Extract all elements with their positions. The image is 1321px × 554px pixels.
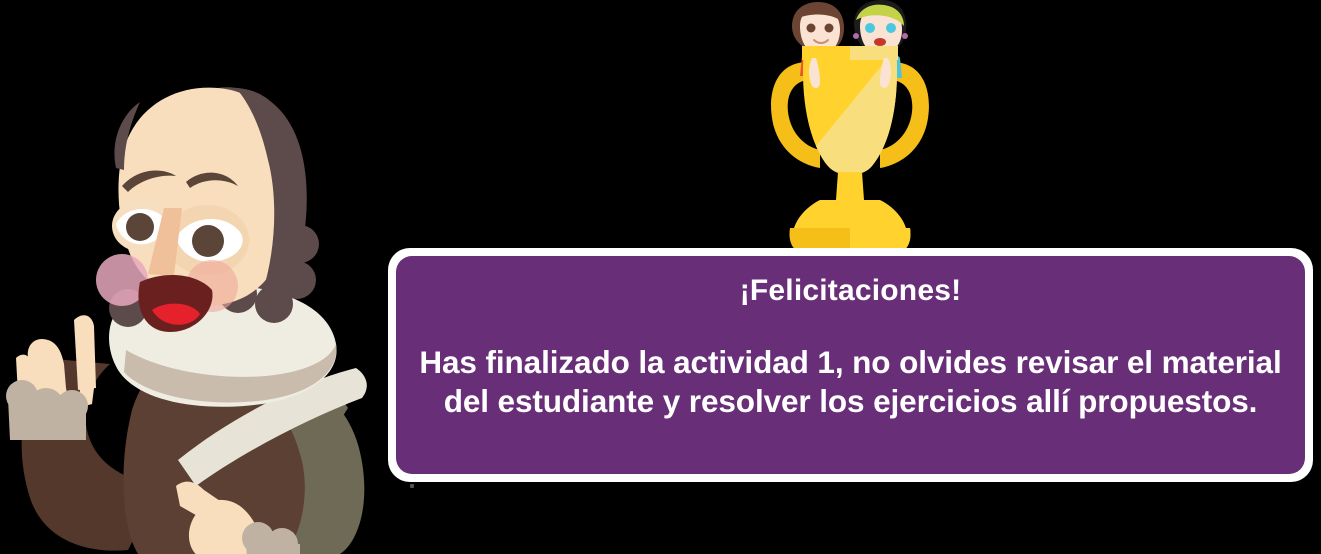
- decorative-speck: [410, 484, 414, 488]
- congratulations-card-inner: ¡Felicitaciones! Has finalizado la activ…: [396, 256, 1305, 474]
- trophy-with-children-icon: [750, 0, 950, 258]
- congratulations-message: Has finalizado la actividad 1, no olvide…: [415, 343, 1285, 422]
- congratulations-card: ¡Felicitaciones! Has finalizado la activ…: [388, 248, 1313, 482]
- shakespeare-teacher-character: [0, 58, 400, 554]
- congratulations-scene: ¡Felicitaciones! Has finalizado la activ…: [0, 0, 1321, 554]
- congratulations-title: ¡Felicitaciones!: [740, 274, 962, 309]
